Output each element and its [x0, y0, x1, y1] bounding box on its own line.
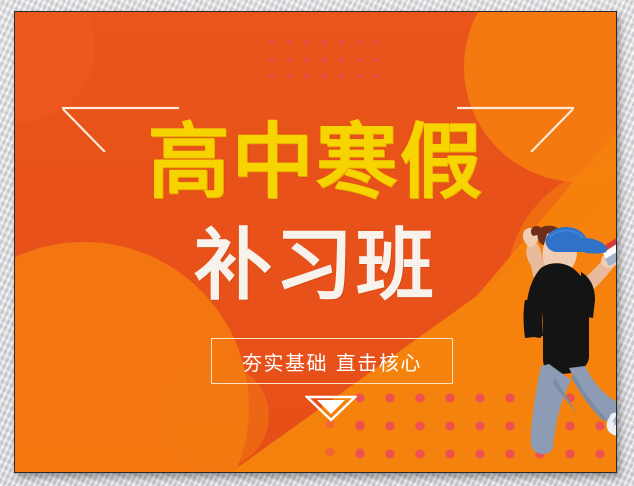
poster: 高中寒假 补习班 夯实基础 直击核心: [14, 11, 617, 473]
chevron-down-icon: [305, 394, 357, 422]
tagline-text: 夯实基础 直击核心: [242, 347, 422, 376]
poster-headline: 高中寒假: [15, 120, 616, 206]
jumping-student-illustration: [485, 208, 617, 473]
poster-mat: 高中寒假 补习班 夯实基础 直击核心: [0, 0, 634, 486]
dot-grid-top-icon: [263, 34, 389, 90]
tagline-box: 夯实基础 直击核心: [211, 338, 453, 384]
